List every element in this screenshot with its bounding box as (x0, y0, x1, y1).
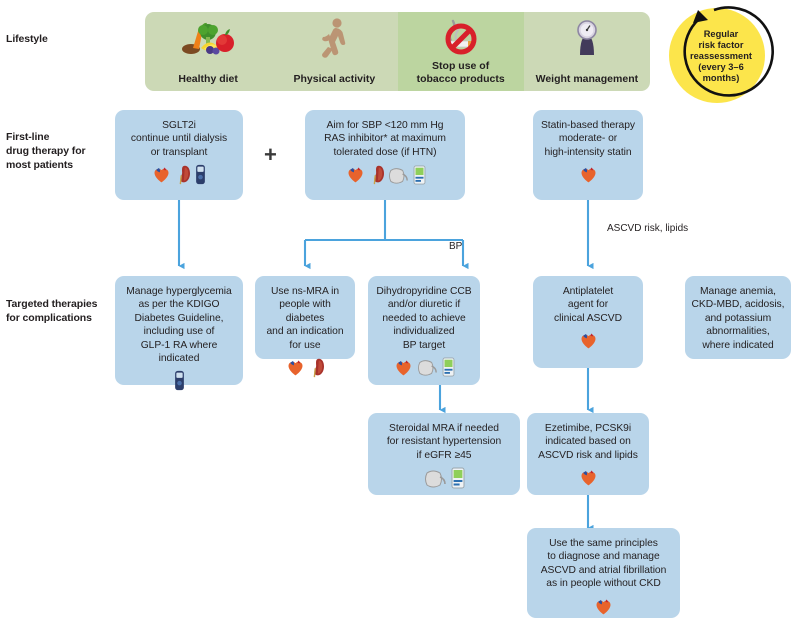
ascvd-lipids-label: ASCVD risk, lipids (607, 223, 688, 235)
no-smoking-icon (398, 17, 524, 59)
kidney-icon (309, 357, 325, 382)
box-text: Aim for SBP <120 mm Hg RAS inhibitor* at… (311, 119, 459, 159)
row-label-lifestyle: Lifestyle (6, 33, 48, 47)
lifestyle-item-stop-tobacco[interactable]: Stop use of tobacco products (398, 12, 524, 91)
heart-icon (285, 357, 306, 382)
box-text: Dihydropyridine CCB and/or diuretic if n… (374, 285, 474, 352)
box-icons (578, 467, 599, 492)
box-icons (593, 596, 614, 621)
lifestyle-item-healthy-diet[interactable]: Healthy diet (145, 12, 271, 91)
box-text: Ezetimibe, PCSK9i indicated based on ASC… (533, 422, 643, 462)
bp-monitor-icon (451, 467, 465, 493)
box-ezetimibe-pcsk9i[interactable]: Ezetimibe, PCSK9i indicated based on ASC… (527, 413, 649, 495)
box-text: Manage anemia, CKD-MBD, acidosis, and po… (691, 285, 785, 352)
running-person-icon (271, 17, 397, 59)
box-ns-mra[interactable]: Use ns-MRA in people with diabetes and a… (255, 276, 355, 359)
box-icons (151, 164, 207, 189)
lifestyle-item-physical-activity[interactable]: Physical activity (271, 12, 397, 91)
bp-cuff-icon (388, 165, 410, 188)
box-text: SGLT2i continue until dialysis or transp… (121, 119, 237, 159)
heart-icon (345, 164, 366, 188)
row-label-targeted-therapies: Targeted therapies for complications (6, 298, 97, 326)
kidney-icon (369, 164, 385, 188)
box-icons (578, 330, 599, 355)
box-steroidal-mra[interactable]: Steroidal MRA if needed for resistant hy… (368, 413, 520, 495)
lifestyle-item-label: Healthy diet (178, 73, 238, 85)
bp-monitor-icon (442, 357, 455, 381)
flowchart-canvas: Lifestyle First-line drug therapy for mo… (0, 0, 800, 622)
box-sglt2i[interactable]: SGLT2i continue until dialysis or transp… (115, 110, 243, 200)
vegetables-fruit-icon (145, 17, 271, 59)
box-icons (345, 164, 426, 188)
box-icons (578, 164, 599, 189)
lifestyle-item-label: Stop use of tobacco products (417, 60, 505, 85)
box-antiplatelet[interactable]: Antiplatelet agent for clinical ASCVD (533, 276, 643, 368)
reassessment-badge[interactable]: Regular risk factor reassessment (every … (669, 8, 765, 103)
circular-arrow-icon (666, 5, 768, 106)
box-icons (285, 357, 325, 382)
heart-icon (151, 164, 172, 189)
glucometer-icon (173, 370, 186, 395)
bp-monitor-icon (413, 165, 426, 188)
kidney-icon (175, 164, 191, 189)
plus-operator: + (264, 144, 277, 166)
lifestyle-bar: Healthy diet Physical activity (145, 12, 650, 91)
box-text: Statin-based therapy moderate- or high-i… (539, 119, 637, 159)
box-icons (393, 357, 455, 382)
box-ccb-diuretic[interactable]: Dihydropyridine CCB and/or diuretic if n… (368, 276, 480, 385)
glucometer-icon (194, 164, 207, 189)
box-anemia-ckdmbd[interactable]: Manage anemia, CKD-MBD, acidosis, and po… (685, 276, 791, 359)
box-bp-target[interactable]: Aim for SBP <120 mm Hg RAS inhibitor* at… (305, 110, 465, 200)
heart-icon (578, 330, 599, 355)
box-hyperglycemia[interactable]: Manage hyperglycemia as per the KDIGO Di… (115, 276, 243, 385)
bp-cuff-icon (417, 357, 439, 381)
box-icons (173, 370, 186, 395)
box-text: Manage hyperglycemia as per the KDIGO Di… (121, 285, 237, 365)
heart-icon (578, 164, 599, 189)
box-statin[interactable]: Statin-based therapy moderate- or high-i… (533, 110, 643, 200)
box-text: Steroidal MRA if needed for resistant hy… (374, 422, 514, 462)
box-text: Use the same principles to diagnose and … (533, 537, 674, 591)
box-icons (424, 467, 465, 493)
box-text: Use ns-MRA in people with diabetes and a… (261, 285, 349, 352)
heart-icon (393, 357, 414, 382)
lifestyle-item-label: Weight management (536, 73, 639, 85)
weight-scale-icon (524, 17, 650, 59)
heart-icon (578, 467, 599, 492)
box-text: Antiplatelet agent for clinical ASCVD (539, 285, 637, 325)
bp-label: BP (449, 241, 462, 253)
box-same-principles[interactable]: Use the same principles to diagnose and … (527, 528, 680, 618)
heart-icon (593, 596, 614, 621)
lifestyle-item-label: Physical activity (294, 73, 376, 85)
bp-cuff-icon (424, 467, 448, 493)
row-label-first-line-drug-therapy: First-line drug therapy for most patient… (6, 131, 86, 173)
lifestyle-item-weight-management[interactable]: Weight management (524, 12, 650, 91)
